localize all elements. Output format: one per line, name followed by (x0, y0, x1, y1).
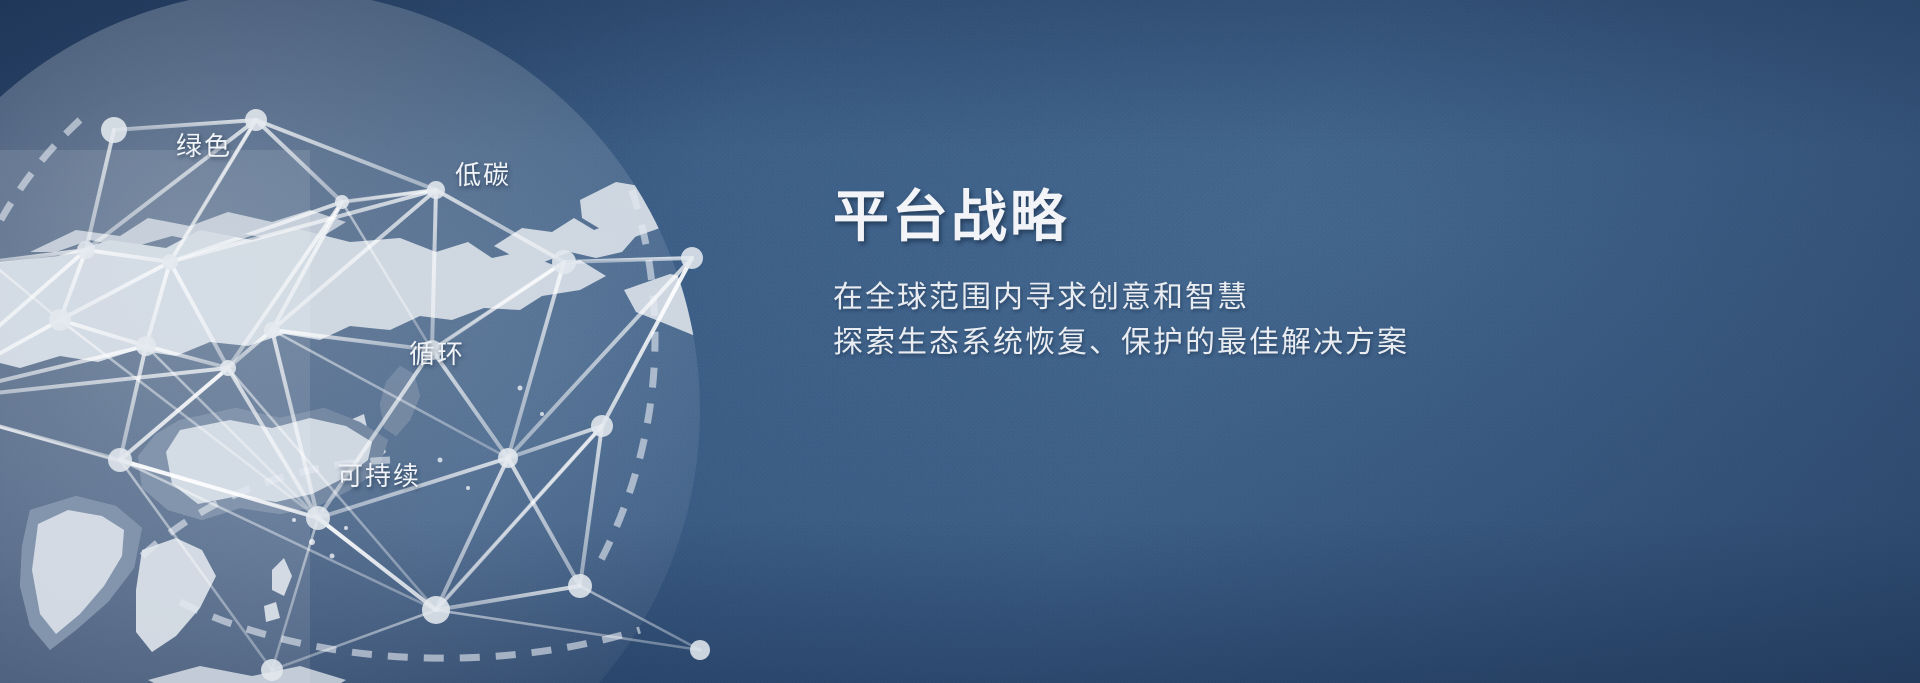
hero-subtitle: 在全球范围内寻求创意和智慧 探索生态系统恢复、保护的最佳解决方案 (833, 249, 1613, 366)
globe-label-low-carbon: 低碳 (455, 155, 511, 192)
hero-banner: 绿色 低碳 循环 可持续 平台战略 在全球范围内寻求创意和智慧 探索生态系统恢复… (0, 0, 1920, 683)
globe-label-sustainable: 可持续 (337, 456, 421, 493)
hero-title: 平台战略 (833, 186, 1613, 249)
hero-subtitle-line-1: 在全球范围内寻求创意和智慧 (833, 275, 1613, 321)
hero-subtitle-line-2: 探索生态系统恢复、保护的最佳解决方案 (833, 320, 1613, 366)
globe-label-circular: 循环 (409, 334, 465, 371)
hero-copy: 平台战略 在全球范围内寻求创意和智慧 探索生态系统恢复、保护的最佳解决方案 (833, 186, 1613, 366)
globe-label-green: 绿色 (176, 126, 232, 163)
